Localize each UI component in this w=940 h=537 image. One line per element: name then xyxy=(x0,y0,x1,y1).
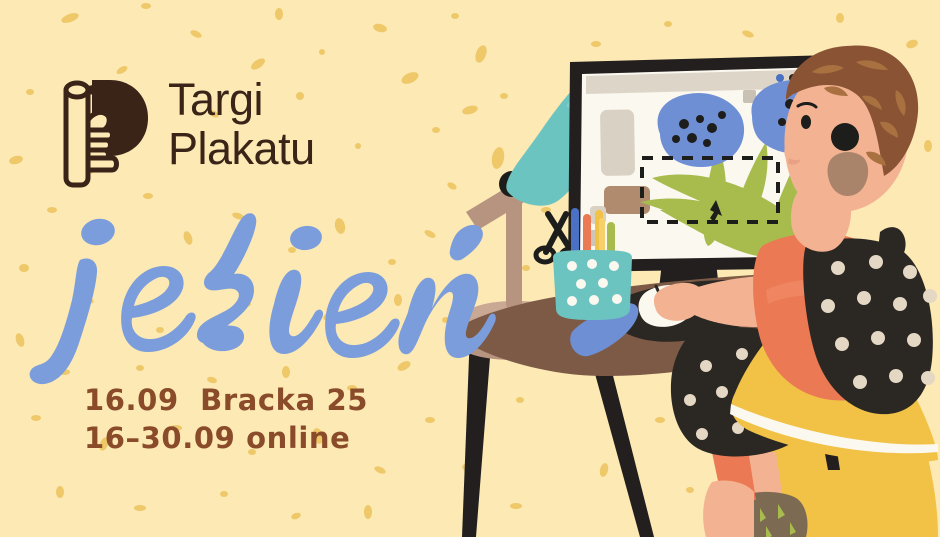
event-online-dates: 16–30.09 online xyxy=(84,419,368,457)
brand-lockup: Targi Plakatu xyxy=(52,70,315,188)
brand-wordmark: Targi Plakatu xyxy=(168,76,315,173)
brand-line-2: Plakatu xyxy=(168,125,315,174)
rolled-poster-hand-p-logo xyxy=(52,70,150,188)
event-details: 16.09 Bracka 25 16–30.09 online xyxy=(84,381,368,458)
brand-line-1: Targi xyxy=(168,76,315,125)
poster-canvas: Targi Plakatu 16.09 Bracka 25 16–30.09 xyxy=(0,0,940,537)
event-date-venue: 16.09 Bracka 25 xyxy=(84,381,368,419)
headline-jesien xyxy=(26,196,496,386)
earring-stud xyxy=(831,123,859,151)
